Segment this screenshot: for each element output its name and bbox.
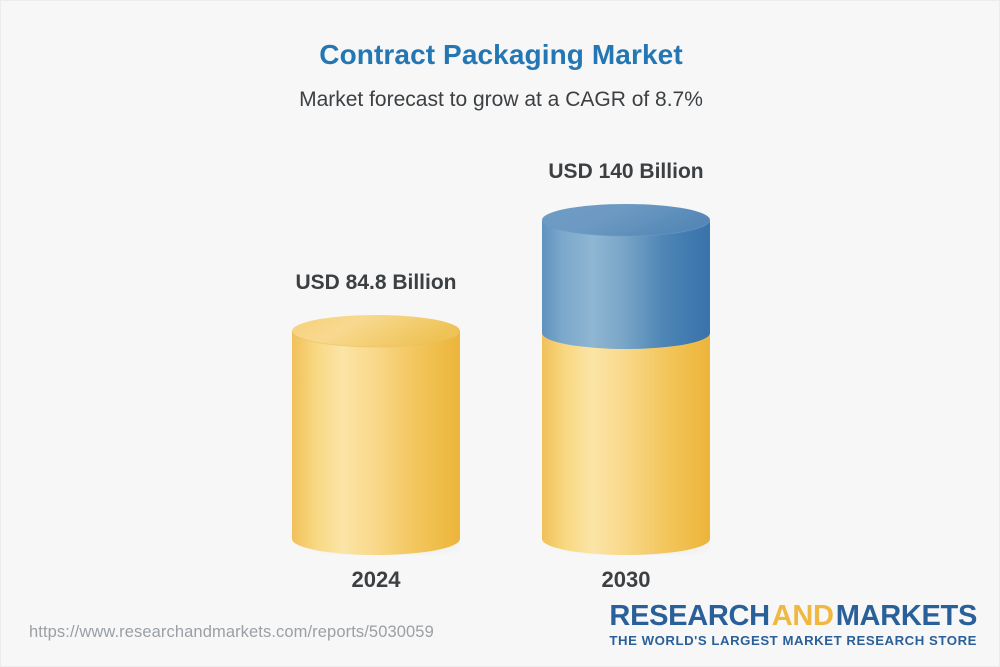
bar-category-label-2024: 2024 (232, 567, 520, 593)
brand-tagline: THE WORLD'S LARGEST MARKET RESEARCH STOR… (609, 633, 977, 648)
bar-value-label-2030: USD 140 Billion (482, 160, 770, 184)
brand-logo: RESEARCHANDMARKETS THE WORLD'S LARGEST M… (609, 601, 977, 648)
plot-area: USD 84.8 Billion (1, 1, 1000, 601)
source-url[interactable]: https://www.researchandmarkets.com/repor… (29, 623, 434, 642)
cylinder-2030 (542, 204, 710, 555)
brand-wordmark: RESEARCHANDMARKETS (609, 601, 977, 631)
bar-category-label-2030: 2030 (482, 567, 770, 593)
chart-canvas: Contract Packaging Market Market forecas… (0, 0, 1000, 667)
brand-word-markets: MARKETS (836, 600, 977, 632)
cylinder-2024 (292, 315, 460, 555)
brand-word-research: RESEARCH (609, 600, 769, 632)
brand-word-and: AND (770, 600, 836, 632)
bar-value-label-2024: USD 84.8 Billion (232, 271, 520, 295)
